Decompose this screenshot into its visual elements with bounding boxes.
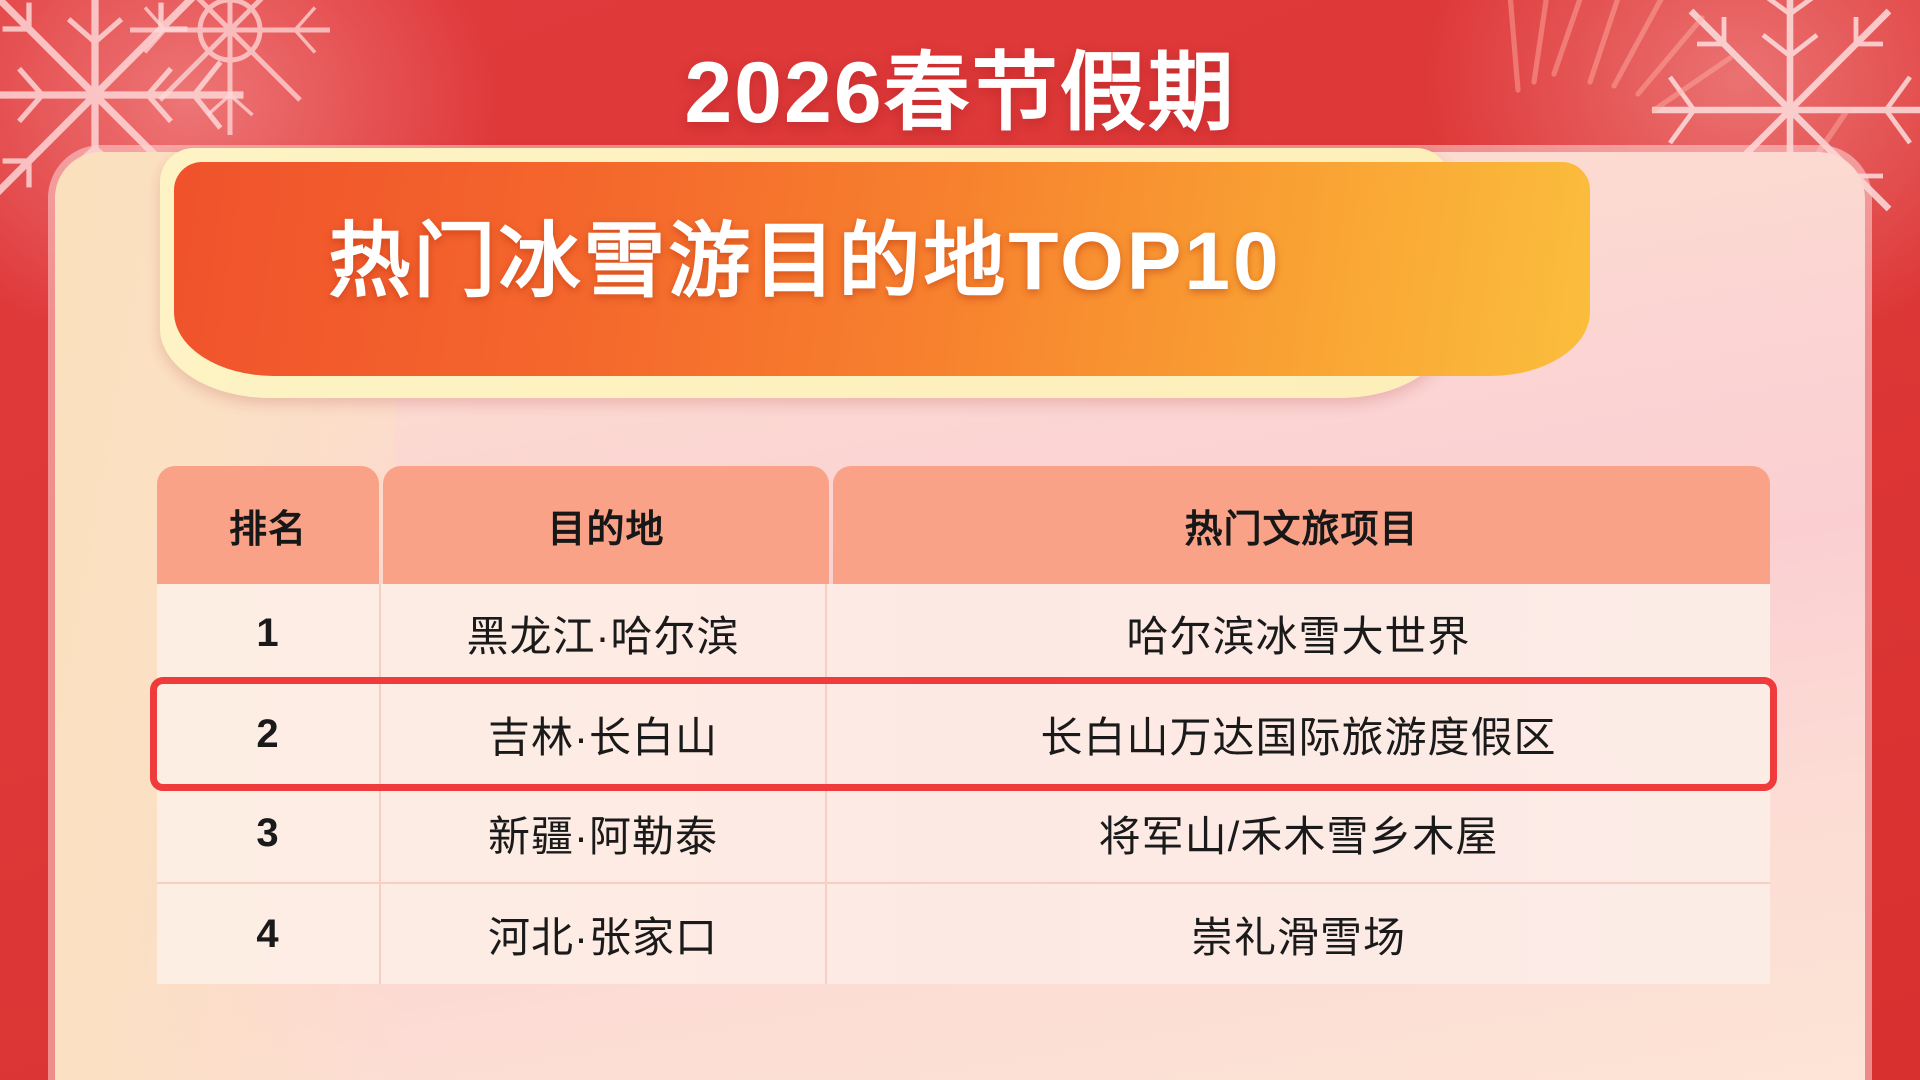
- table-body: 1 黑龙江·哈尔滨 哈尔滨冰雪大世界 2 吉林·长白山 长白山万达国际旅游度假区…: [157, 584, 1770, 984]
- column-header-destination: 目的地: [383, 466, 829, 584]
- cell-destination: 吉林·长白山: [379, 684, 825, 784]
- table-row[interactable]: 1 黑龙江·哈尔滨 哈尔滨冰雪大世界: [157, 584, 1770, 684]
- cell-destination: 黑龙江·哈尔滨: [379, 584, 825, 682]
- column-header-project: 热门文旅项目: [833, 466, 1770, 584]
- table-row-highlighted[interactable]: 2 吉林·长白山 长白山万达国际旅游度假区: [157, 684, 1770, 784]
- cell-rank: 3: [157, 784, 379, 882]
- table-row[interactable]: 3 新疆·阿勒泰 将军山/禾木雪乡木屋: [157, 784, 1770, 884]
- cell-rank: 1: [157, 584, 379, 682]
- cell-project: 哈尔滨冰雪大世界: [825, 584, 1770, 682]
- page-title: 2026春节假期: [0, 48, 1920, 138]
- poster-root: 2026春节假期 热门冰雪游目的地TOP10 排名 目的地 热门文旅项目 1 黑…: [0, 0, 1920, 1080]
- sub-title: 热门冰雪游目的地TOP10: [160, 194, 1450, 313]
- cell-project: 崇礼滑雪场: [825, 884, 1770, 984]
- ranking-table: 排名 目的地 热门文旅项目 1 黑龙江·哈尔滨 哈尔滨冰雪大世界 2 吉林·长白…: [157, 466, 1770, 984]
- table-row[interactable]: 4 河北·张家口 崇礼滑雪场: [157, 884, 1770, 984]
- table-header-row: 排名 目的地 热门文旅项目: [157, 466, 1770, 584]
- sub-banner: 热门冰雪游目的地TOP10: [160, 148, 1450, 398]
- cell-destination: 新疆·阿勒泰: [379, 784, 825, 882]
- cell-rank: 4: [157, 884, 379, 984]
- cell-project: 长白山万达国际旅游度假区: [825, 684, 1770, 784]
- cell-destination: 河北·张家口: [379, 884, 825, 984]
- cell-project: 将军山/禾木雪乡木屋: [825, 784, 1770, 882]
- column-header-rank: 排名: [157, 466, 379, 584]
- cell-rank: 2: [157, 684, 379, 784]
